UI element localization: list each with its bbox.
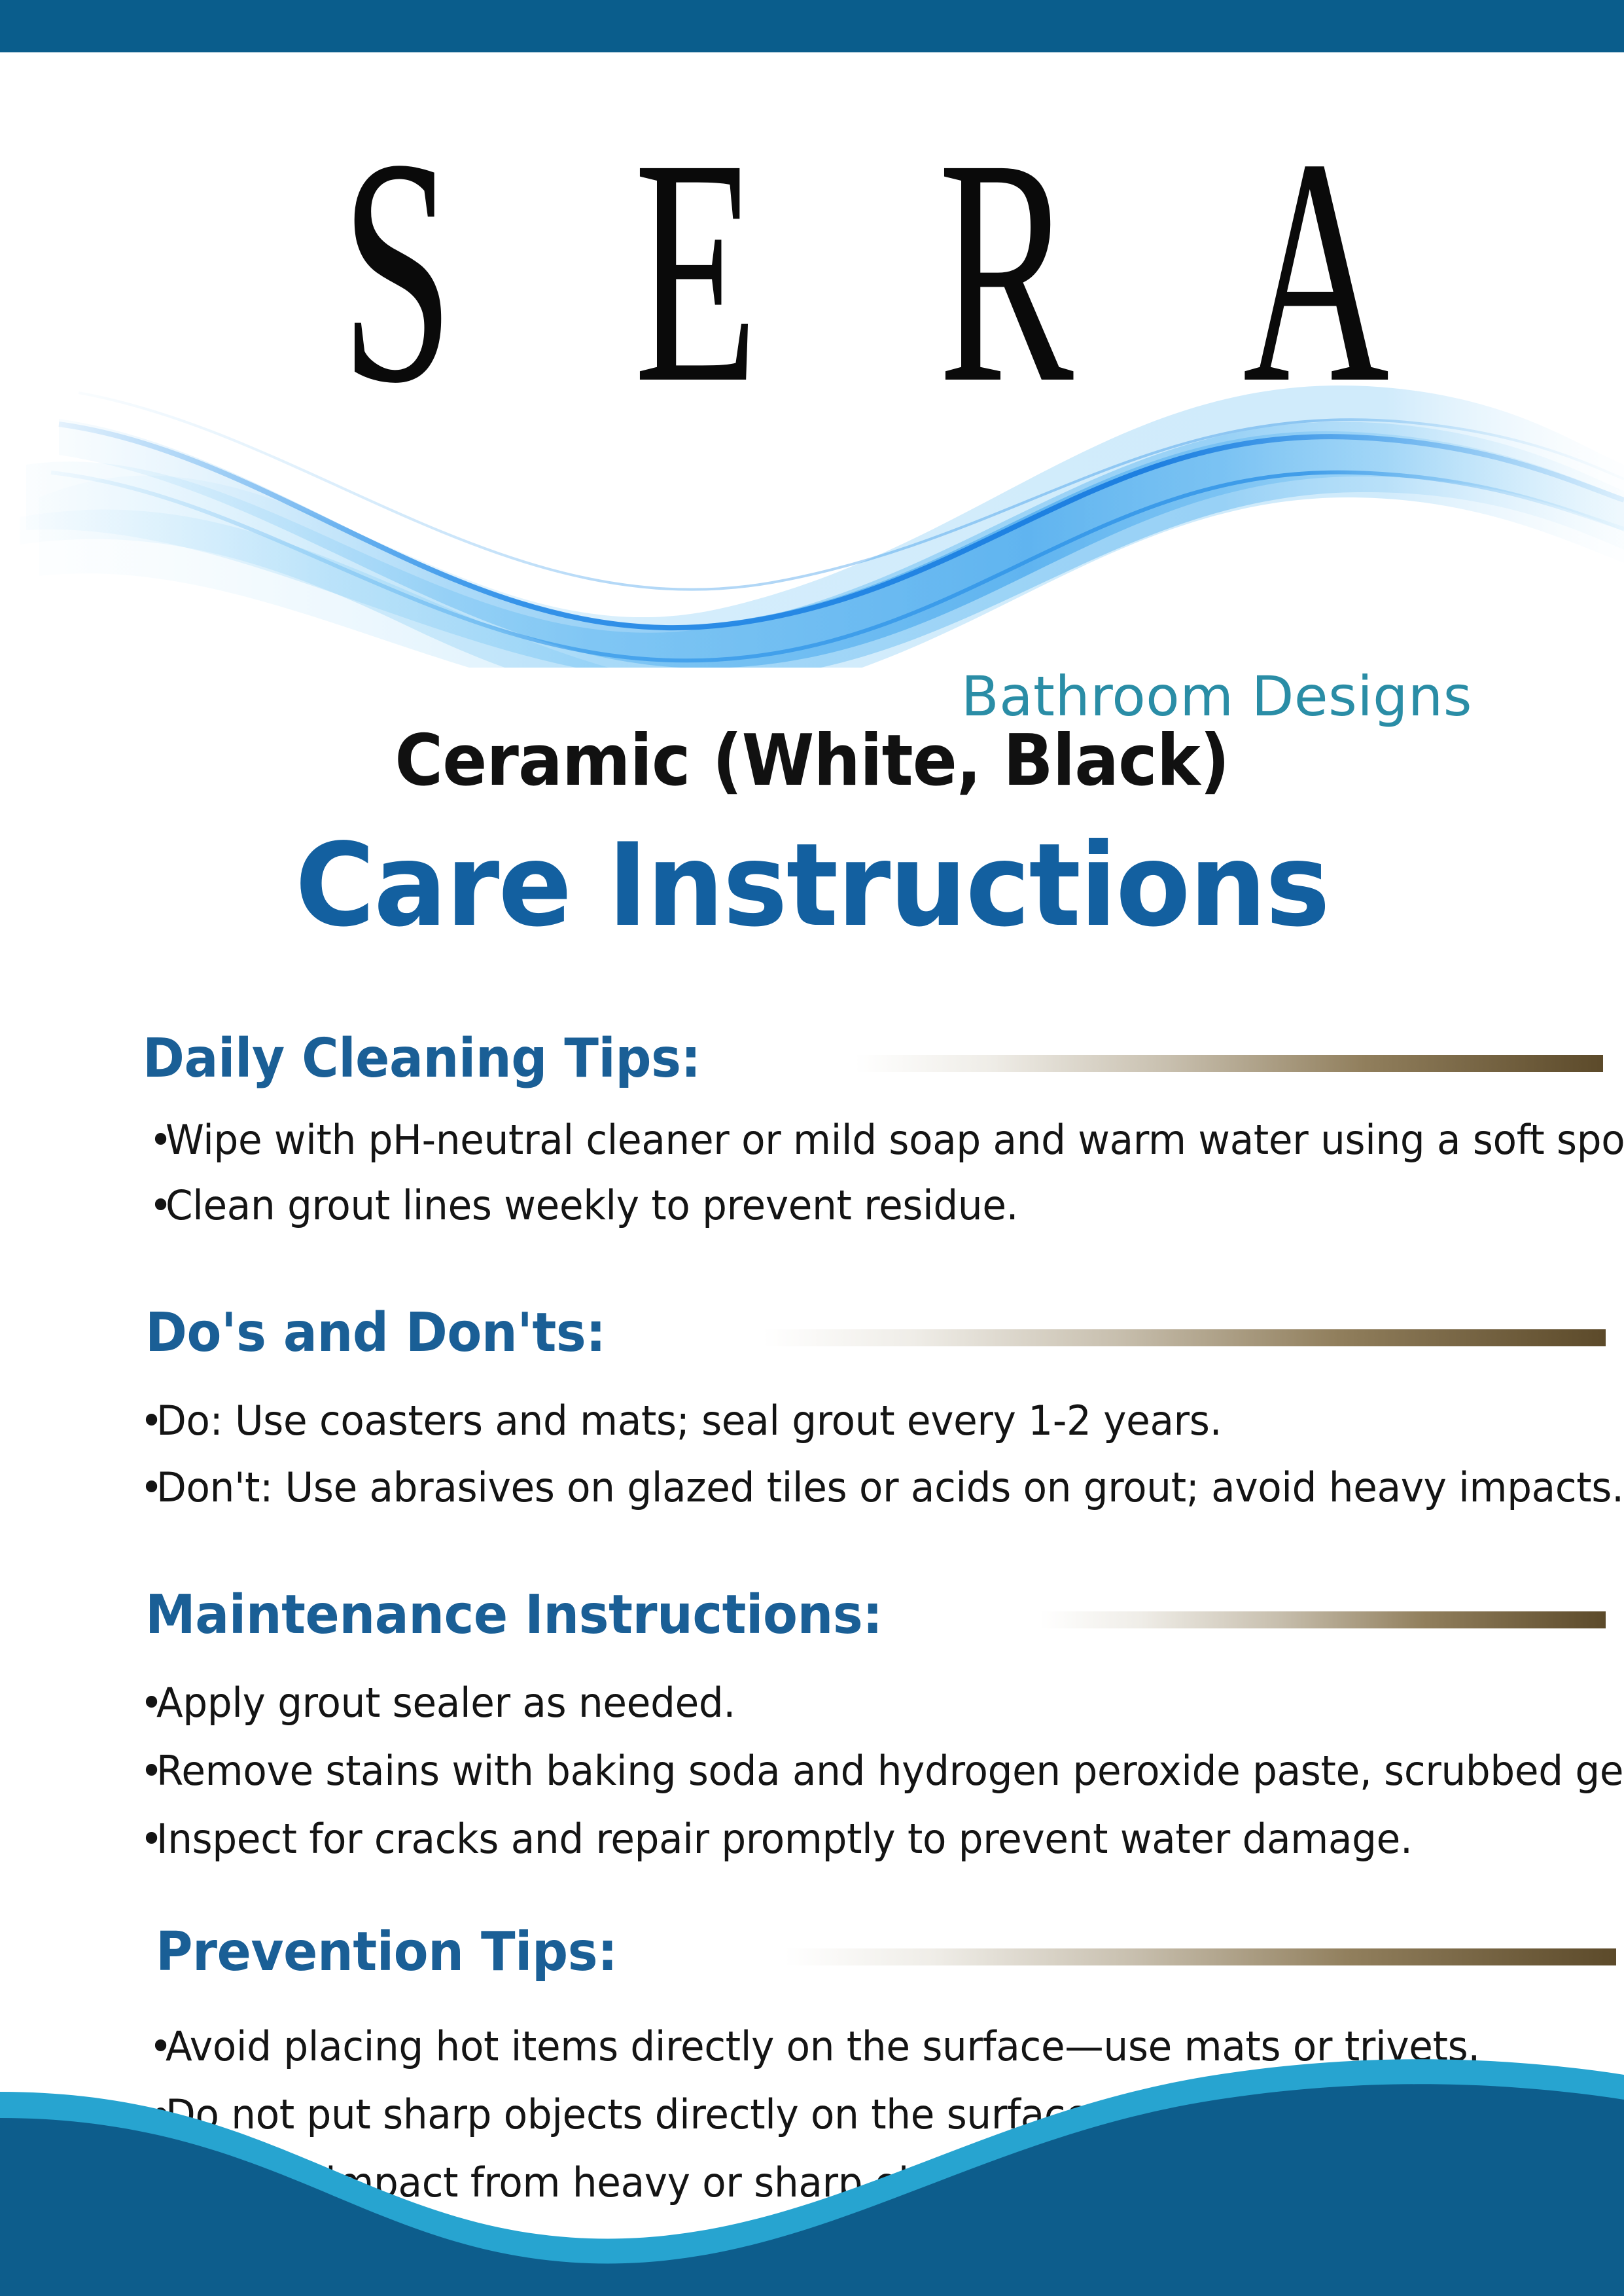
- list-item: •Don't: Use abrasives on glazed tiles or…: [140, 1467, 1564, 1508]
- bullet-dot-icon: •: [149, 1120, 166, 1160]
- list-item-text: Don't: Use abrasives on glazed tiles or …: [156, 1463, 1624, 1511]
- wave-band-b: [26, 422, 1624, 668]
- bullet-dot-icon: •: [140, 1401, 156, 1441]
- product-title: Ceramic (White, Black): [57, 720, 1567, 802]
- page-title: Care Instructions: [41, 819, 1583, 952]
- section-divider-rule: [855, 1055, 1603, 1072]
- list-item-text: Clean grout lines weekly to prevent resi…: [166, 1181, 1018, 1229]
- list-item: •Inspect for cracks and repair promptly …: [140, 1819, 1564, 1859]
- section-header: Prevention Tips:: [156, 1921, 1624, 1990]
- section-divider-rule: [763, 1329, 1606, 1346]
- section-daily-cleaning-tips: Daily Cleaning Tips: •Wipe with pH-neutr…: [0, 1028, 1624, 1226]
- list-item-text: Apply grout sealer as needed.: [156, 1679, 735, 1727]
- care-instructions-poster: S E R A: [0, 0, 1624, 2296]
- bullet-dot-icon: •: [140, 1467, 156, 1508]
- top-accent-bar: [0, 0, 1624, 52]
- list-item-text: Wipe with pH-neutral cleaner or mild soa…: [166, 1116, 1624, 1164]
- list-item-text: Do: Use coasters and mats; seal grout ev…: [156, 1397, 1222, 1444]
- wave-line-primary: [59, 424, 1624, 628]
- bullet-dot-icon: •: [140, 1751, 156, 1791]
- brand-tagline: Bathroom Designs: [0, 664, 1624, 728]
- bullet-dot-icon: •: [140, 1683, 156, 1723]
- section-divider-rule: [785, 1948, 1616, 1965]
- sera-logo-wordmark: S E R A: [276, 118, 1348, 425]
- footer-wave-graphic: [0, 2034, 1624, 2296]
- wave-wisp-left: [20, 509, 792, 668]
- bullet-dot-icon: •: [149, 1185, 166, 1226]
- section-header: Daily Cleaning Tips:: [143, 1028, 1624, 1096]
- wave-band-a: [59, 419, 1624, 668]
- section-divider-rule: [1040, 1611, 1606, 1628]
- bullet-list: •Apply grout sealer as needed. •Remove s…: [140, 1683, 1624, 1859]
- wave-line-secondary: [51, 473, 1624, 661]
- section-maintenance-instructions: Maintenance Instructions: •Apply grout s…: [0, 1584, 1624, 1859]
- section-heading-label: Do's and Don'ts:: [145, 1302, 606, 1364]
- bullet-list: •Wipe with pH-neutral cleaner or mild so…: [149, 1120, 1624, 1226]
- section-dos-and-donts: Do's and Don'ts: •Do: Use coasters and m…: [0, 1302, 1624, 1508]
- brand-header: S E R A: [0, 52, 1624, 713]
- section-heading-label: Maintenance Instructions:: [145, 1584, 883, 1646]
- section-header: Maintenance Instructions:: [145, 1584, 1624, 1653]
- section-header: Do's and Don'ts:: [145, 1302, 1624, 1371]
- list-item: •Wipe with pH-neutral cleaner or mild so…: [149, 1120, 1565, 1160]
- list-item-text: Remove stains with baking soda and hydro…: [156, 1747, 1624, 1795]
- list-item: •Do: Use coasters and mats; seal grout e…: [140, 1401, 1564, 1441]
- list-item: •Clean grout lines weekly to prevent res…: [149, 1185, 1565, 1226]
- list-item-text: Inspect for cracks and repair promptly t…: [156, 1815, 1413, 1863]
- bullet-list: •Do: Use coasters and mats; seal grout e…: [140, 1401, 1624, 1508]
- list-item: •Remove stains with baking soda and hydr…: [140, 1751, 1564, 1791]
- bullet-dot-icon: •: [140, 1819, 156, 1859]
- footer-wave-dark-layer: [0, 2084, 1624, 2296]
- section-heading-label: Prevention Tips:: [156, 1921, 617, 1983]
- list-item: •Apply grout sealer as needed.: [140, 1683, 1564, 1723]
- section-heading-label: Daily Cleaning Tips:: [143, 1028, 701, 1090]
